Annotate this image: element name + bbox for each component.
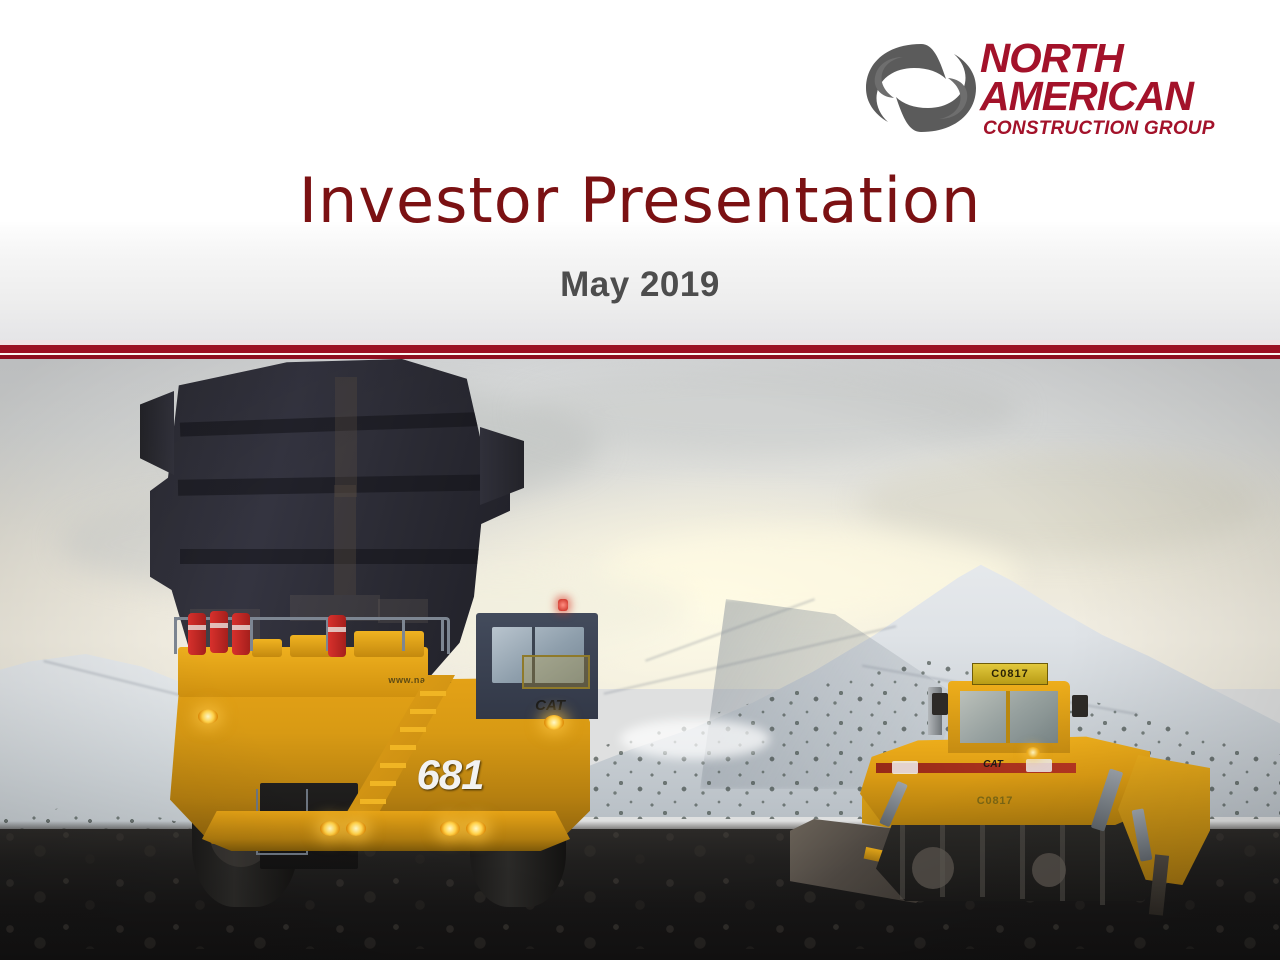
divider-thick-rule xyxy=(0,345,1280,353)
presentation-slide: NORTH AMERICAN CONSTRUCTION GROUP Invest… xyxy=(0,0,1280,960)
dozer-grouser xyxy=(900,813,905,899)
extinguisher-band xyxy=(232,625,250,630)
dozer-company-decal xyxy=(1026,759,1052,772)
stair-step xyxy=(420,691,446,696)
bulldozer: CAT C0817 C0817 xyxy=(800,659,1220,929)
logo-line-american: AMERICAN xyxy=(980,73,1193,120)
dozer-unit-placard: C0817 xyxy=(972,663,1048,685)
box-vertical-rib xyxy=(335,377,357,497)
hero-photo: CAT C0817 C0817 xyxy=(0,359,1280,960)
handrail-post xyxy=(174,617,177,651)
handrail-post xyxy=(250,617,253,651)
stair-step xyxy=(390,745,416,750)
dozer-mirror xyxy=(1072,695,1088,717)
truck-unit-number: 681 xyxy=(380,751,520,799)
truck-catwalk xyxy=(522,655,590,689)
haul-truck: www.nacg.ca 681 CAT xyxy=(140,359,660,919)
stair-step xyxy=(400,727,426,732)
truck-upper-headlight xyxy=(198,709,218,724)
dozer-grouser xyxy=(1020,813,1025,899)
dozer-work-light xyxy=(1026,747,1040,758)
extinguisher-band xyxy=(210,623,228,628)
extinguisher-band xyxy=(188,625,206,630)
truck-strobe-beacon xyxy=(558,599,568,611)
dozer-body-id: C0817 xyxy=(960,795,1030,807)
truck-headlight xyxy=(346,821,366,836)
truck-cat-badge: CAT xyxy=(520,697,580,714)
handrail-post xyxy=(441,617,444,651)
fire-extinguisher xyxy=(188,613,206,655)
fire-extinguisher xyxy=(210,611,228,653)
logo-line-construction-group: CONSTRUCTION GROUP xyxy=(983,118,1215,140)
slide-date-subtitle: May 2019 xyxy=(0,265,1280,305)
dozer-grouser xyxy=(1060,815,1065,901)
dozer-sprocket xyxy=(912,847,954,889)
swirl-spiral-icon xyxy=(862,38,980,138)
logo-wordmark: NORTH AMERICAN CONSTRUCTION GROUP xyxy=(980,34,1234,152)
truck-bumper xyxy=(202,811,570,851)
truck-headlight xyxy=(440,821,460,836)
divider xyxy=(0,340,1280,360)
page-title: Investor Presentation xyxy=(0,164,1280,237)
dozer-company-decal xyxy=(892,761,918,774)
dozer-grouser xyxy=(1100,819,1105,905)
extinguisher-band xyxy=(328,627,346,632)
stair-step xyxy=(410,709,436,714)
box-side-flange xyxy=(480,427,524,505)
handrail-post xyxy=(402,617,405,651)
stair-step xyxy=(360,799,386,804)
fire-extinguisher xyxy=(232,613,250,655)
company-logo: NORTH AMERICAN CONSTRUCTION GROUP xyxy=(862,34,1234,152)
truck-headlight xyxy=(320,821,340,836)
dozer-cat-badge: CAT xyxy=(976,759,1010,770)
dozer-mirror xyxy=(932,693,948,715)
fire-extinguisher xyxy=(328,615,346,657)
dozer-window-post xyxy=(1006,691,1010,743)
box-side-flange xyxy=(140,391,174,475)
title-band: NORTH AMERICAN CONSTRUCTION GROUP Invest… xyxy=(0,0,1280,346)
truck-headlight xyxy=(466,821,486,836)
box-vertical-rib xyxy=(334,485,356,595)
truck-upper-headlight xyxy=(544,715,564,730)
dozer-placard-text: C0817 xyxy=(991,668,1028,680)
